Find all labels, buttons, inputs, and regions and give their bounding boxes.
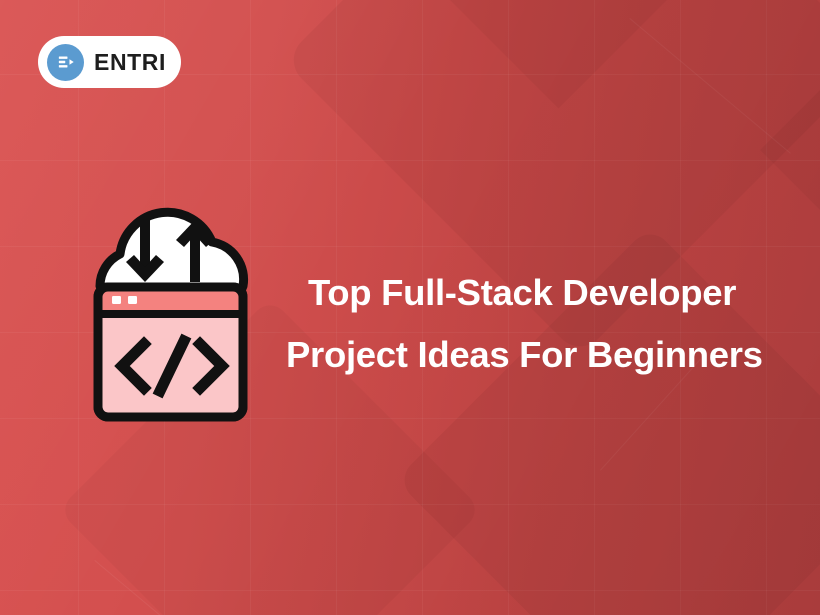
window-dot <box>112 296 121 304</box>
page-title-line-1: Top Full-Stack Developer <box>286 262 816 324</box>
entri-wordmark: ENTRI <box>94 51 166 74</box>
entri-logo[interactable]: ENTRI <box>38 36 181 88</box>
browser-window-icon <box>98 287 243 417</box>
entri-e-play-icon <box>47 44 84 81</box>
page-title: Top Full-Stack Developer Project Ideas F… <box>286 262 816 386</box>
cloud-code-illustration <box>48 178 300 430</box>
page-title-line-2: Project Ideas For Beginners <box>286 324 816 386</box>
banner-canvas: ENTRI <box>0 0 820 615</box>
window-dot <box>128 296 137 304</box>
